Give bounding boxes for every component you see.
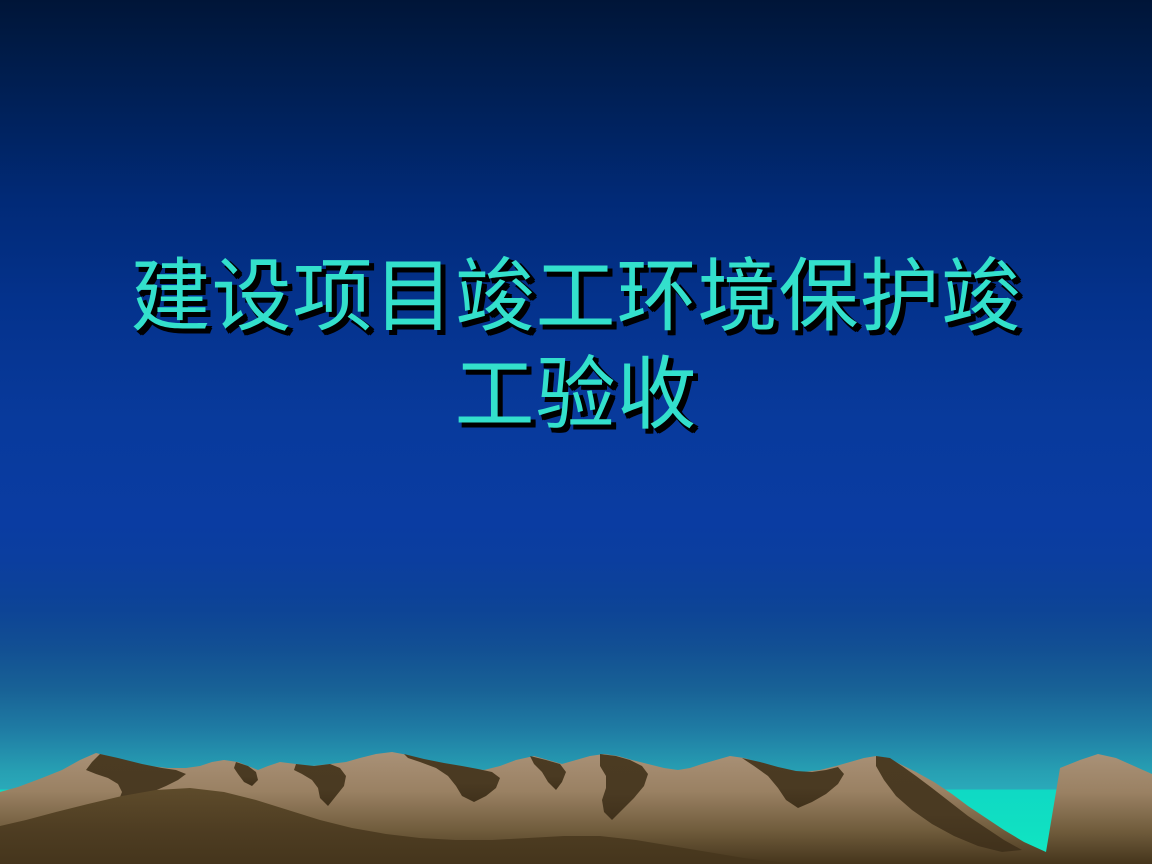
slide-title-line-1: 建设项目竣工环境保护竣	[60, 248, 1092, 346]
presentation-slide: 建设项目竣工环境保护竣 工验收	[0, 0, 1152, 864]
slide-title: 建设项目竣工环境保护竣 工验收	[60, 248, 1092, 444]
mountain-right-ridge	[1044, 754, 1152, 864]
slide-title-line-2: 工验收	[60, 346, 1092, 444]
